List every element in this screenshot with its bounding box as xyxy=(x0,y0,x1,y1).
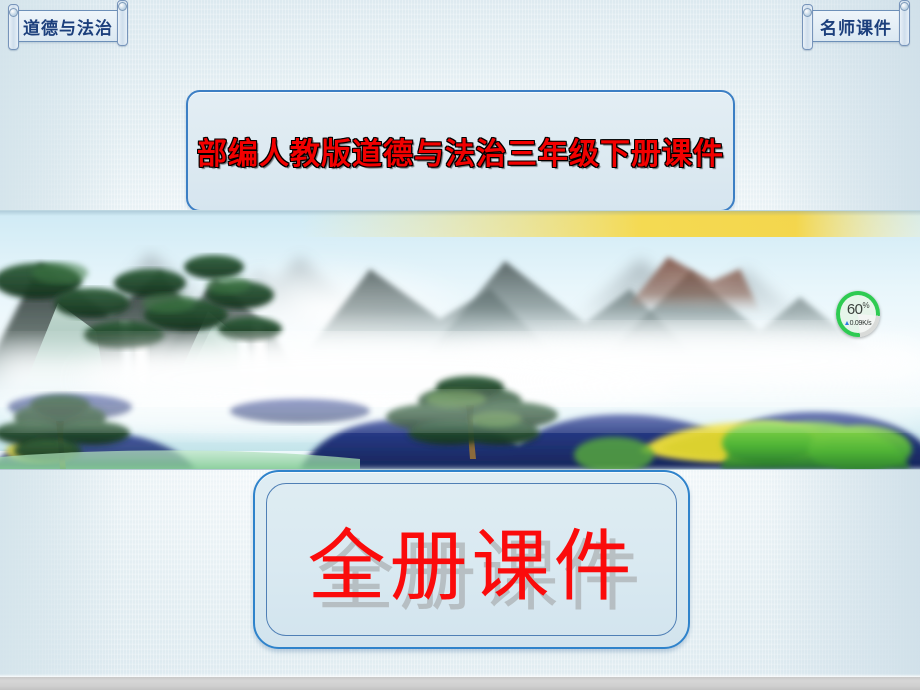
network-speed-badge[interactable]: 60% 0.09K/s xyxy=(836,291,880,337)
hero-box-inner-frame: 全册课件 xyxy=(266,483,677,636)
speed-percent-value: 60% xyxy=(847,302,869,317)
speed-badge-inner: 60% 0.09K/s xyxy=(840,295,876,333)
bottom-strip xyxy=(0,677,920,690)
speed-percent-number: 60 xyxy=(847,301,863,318)
landscape-painting-image xyxy=(0,210,920,470)
painting-top-shadow xyxy=(0,211,920,216)
scroll-knob-left-icon xyxy=(803,8,812,17)
scroll-banner-left-label: 道德与法治 xyxy=(23,14,113,39)
scroll-banner-left: 道德与法治 xyxy=(6,6,130,42)
speed-percent-unit: % xyxy=(863,301,870,310)
scroll-banner-right-label: 名师课件 xyxy=(820,14,892,39)
upload-arrow-icon xyxy=(845,321,849,325)
page-title: 部编人教版道德与法治三年级下册课件 xyxy=(197,129,724,173)
scroll-banner-right-paper: 名师课件 xyxy=(810,10,902,42)
speed-rate-row: 0.09K/s xyxy=(845,320,872,327)
title-box: 部编人教版道德与法治三年级下册课件 xyxy=(186,90,735,212)
hero-title: 全册课件 xyxy=(307,504,635,616)
scroll-knob-right-icon xyxy=(900,2,909,11)
presentation-slide: 道德与法治 名师课件 部编人教版道德与法治三年级下册课件 xyxy=(0,0,920,690)
scroll-banner-right: 名师课件 xyxy=(800,6,912,42)
scroll-banner-left-paper: 道德与法治 xyxy=(16,10,120,42)
speed-rate-value: 0.09K/s xyxy=(850,320,872,327)
scroll-knob-left-icon xyxy=(9,8,18,17)
scroll-knob-right-icon xyxy=(118,2,127,11)
hero-box: 全册课件 xyxy=(253,470,690,649)
